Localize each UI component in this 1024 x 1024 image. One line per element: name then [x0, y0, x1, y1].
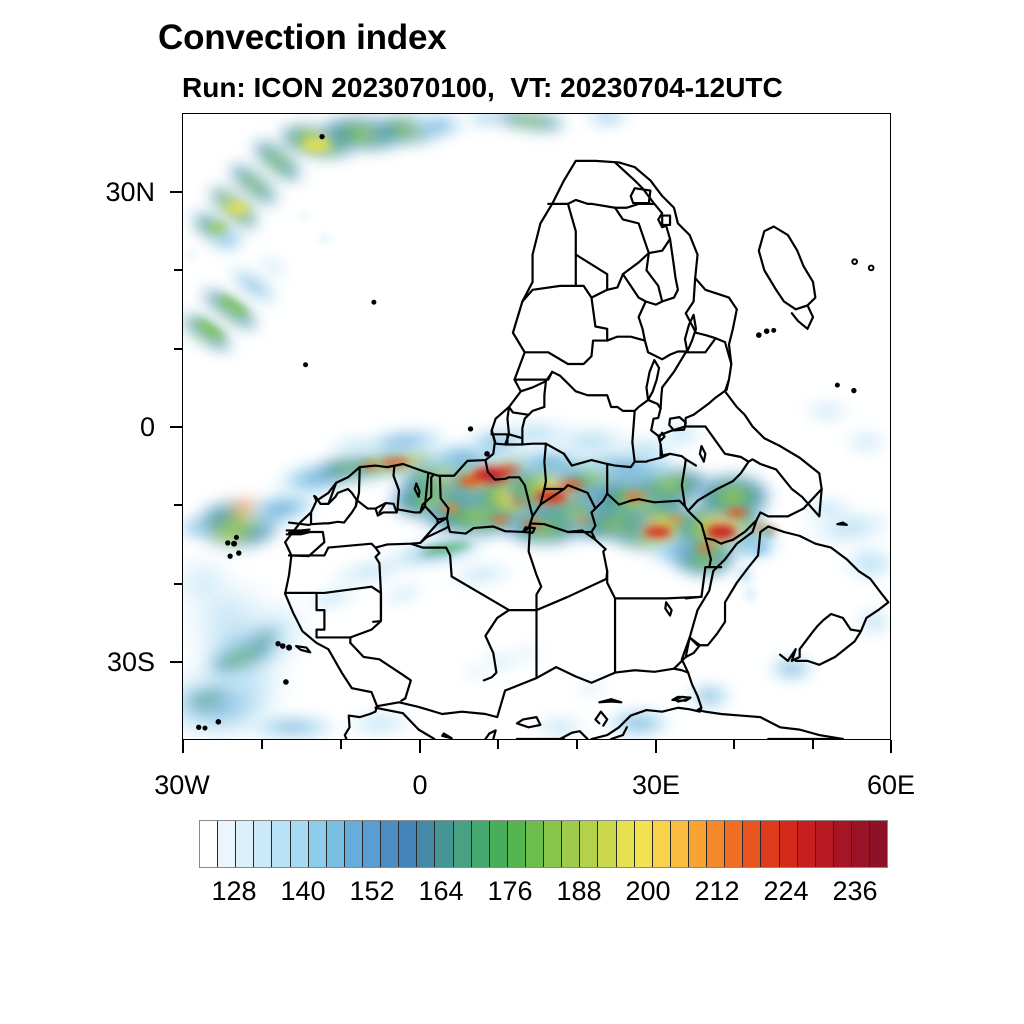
colorbar-cell [309, 821, 327, 867]
colorbar-cell [761, 821, 779, 867]
colorbar: 128 140 152 164 176 188 200 212 224 236 [199, 820, 888, 868]
colorbar-cell [707, 821, 725, 867]
xtick-10w [340, 740, 342, 749]
colorbar-cell [562, 821, 580, 867]
xtick-50e [812, 740, 814, 749]
colorbar-cell [472, 821, 490, 867]
colorbar-swatches [199, 820, 888, 868]
map-canvas [183, 114, 890, 739]
colorbar-cell [345, 821, 363, 867]
xlabel-30e: 30E [596, 770, 716, 801]
colorbar-cell [526, 821, 544, 867]
xtick-10e [497, 740, 499, 749]
figure-root: Convection index Run: ICON 2023070100, V… [0, 0, 1024, 1024]
colorbar-cell [834, 821, 852, 867]
ylabel-0: 0 [20, 412, 155, 443]
colorbar-cell [617, 821, 635, 867]
colorbar-cell [291, 821, 309, 867]
colorbar-cell [327, 821, 345, 867]
ytick-0 [170, 426, 183, 428]
colorbar-cell [580, 821, 598, 867]
colorbar-cell [544, 821, 562, 867]
ytick-20n [174, 269, 183, 271]
colorbar-cell [870, 821, 887, 867]
colorbar-cell [454, 821, 472, 867]
colorbar-cell [200, 821, 218, 867]
colorbar-cell [598, 821, 616, 867]
xtick-30w [182, 740, 184, 753]
ytick-20s [174, 583, 183, 585]
xtick-30e [655, 740, 657, 753]
xlabel-0: 0 [360, 770, 480, 801]
colorbar-cell [671, 821, 689, 867]
colorbar-cell [798, 821, 816, 867]
colorbar-cell [852, 821, 870, 867]
xlabel-60e: 60E [831, 770, 951, 801]
colorbar-cell [816, 821, 834, 867]
xtick-0 [419, 740, 421, 753]
colorbar-cell [689, 821, 707, 867]
colorbar-cell [653, 821, 671, 867]
ytick-10s [174, 504, 183, 506]
colorbar-cell [743, 821, 761, 867]
ylabel-30s: 30S [20, 647, 155, 678]
cb-label-236: 236 [795, 876, 915, 907]
colorbar-cell [417, 821, 435, 867]
colorbar-cell [399, 821, 417, 867]
xtick-20e [576, 740, 578, 749]
map-plot-area [182, 113, 891, 740]
xtick-20w [261, 740, 263, 749]
colorbar-cell [363, 821, 381, 867]
colorbar-cell [490, 821, 508, 867]
colorbar-cell [272, 821, 290, 867]
colorbar-cell [218, 821, 236, 867]
colorbar-cell [508, 821, 526, 867]
colorbar-cell [435, 821, 453, 867]
ylabel-30n: 30N [20, 177, 155, 208]
ytick-30n [170, 191, 183, 193]
page-title: Convection index [158, 18, 447, 58]
xtick-40e [733, 740, 735, 749]
colorbar-cell [236, 821, 254, 867]
colorbar-cell [780, 821, 798, 867]
colorbar-cell [254, 821, 272, 867]
xtick-60e [890, 740, 892, 753]
xlabel-30w: 30W [122, 770, 242, 801]
ytick-10n [174, 348, 183, 350]
ytick-30s [170, 661, 183, 663]
chart-subtitle: Run: ICON 2023070100, VT: 20230704-12UTC [182, 72, 783, 104]
colorbar-cell [725, 821, 743, 867]
colorbar-cell [381, 821, 399, 867]
colorbar-cell [635, 821, 653, 867]
